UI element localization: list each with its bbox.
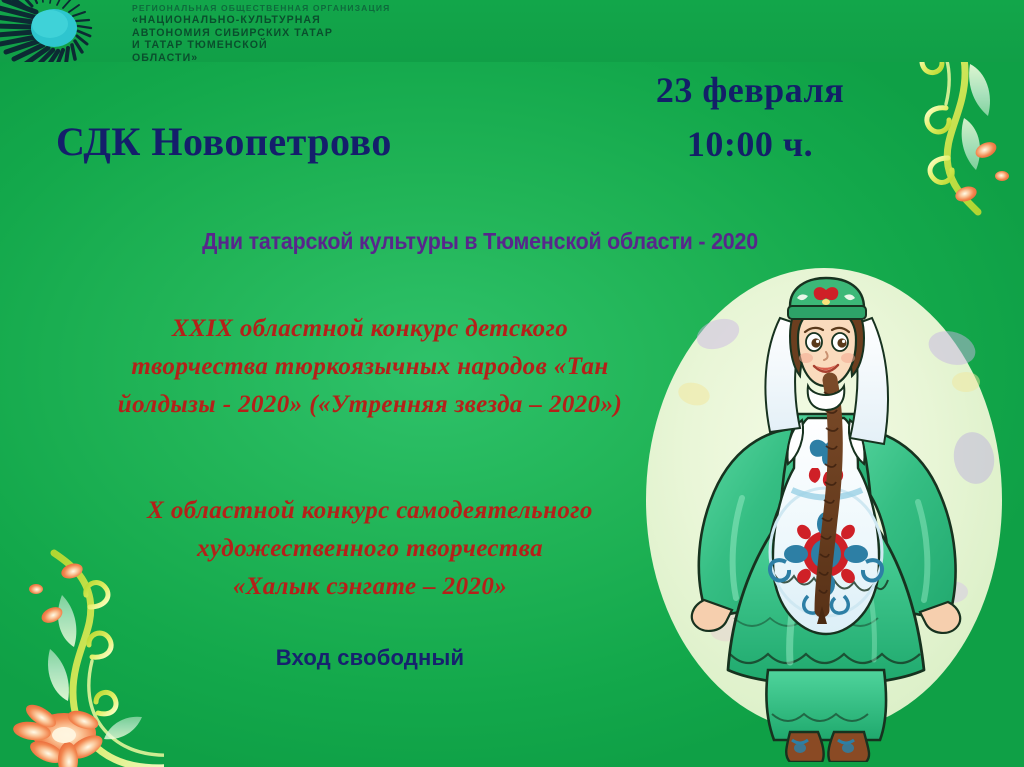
- contest1-line-2: творчества тюркоязычных народов «Тан: [40, 348, 700, 386]
- organization-name: РЕГИОНАЛЬНАЯ ОБЩЕСТВЕННАЯ ОРГАНИЗАЦИЯ «Н…: [132, 2, 462, 62]
- contest-block-amateur: X областной конкурс самодеятельного худо…: [40, 492, 700, 606]
- entry-free-note: Вход свободный: [40, 645, 700, 671]
- org-line-1: РЕГИОНАЛЬНАЯ ОБЩЕСТВЕННАЯ ОРГАНИЗАЦИЯ: [132, 2, 462, 14]
- contest2-line-2: художественного творчества: [40, 530, 700, 568]
- contest1-line-3: йолдызы - 2020» («Утренняя звезда – 2020…: [40, 386, 700, 424]
- org-line-3: АВТОНОМИЯ СИБИРСКИХ ТАТАР: [132, 27, 462, 40]
- tatar-girl-illustration: [622, 262, 1022, 762]
- contest1-line-1: XXIX областной конкурс детского: [40, 310, 700, 348]
- event-time: 10:00 ч.: [600, 122, 900, 166]
- poster-canvas: РЕГИОНАЛЬНАЯ ОБЩЕСТВЕННАЯ ОРГАНИЗАЦИЯ «Н…: [0, 0, 1024, 767]
- org-line-2: «НАЦИОНАЛЬНО-КУЛЬТУРНАЯ: [132, 14, 462, 27]
- event-subtitle: Дни татарской культуры в Тюменской облас…: [34, 228, 927, 255]
- contest2-line-3: «Халык сэнгате – 2020»: [40, 568, 700, 606]
- spiral-sun-logo: [0, 0, 114, 62]
- header-bar: РЕГИОНАЛЬНАЯ ОБЩЕСТВЕННАЯ ОРГАНИЗАЦИЯ «Н…: [0, 0, 1024, 62]
- org-line-5: ОБЛАСТИ»: [132, 52, 462, 62]
- contest-block-children: XXIX областной конкурс детского творчест…: [40, 310, 700, 424]
- venue-title: СДК Новопетрово: [56, 118, 392, 165]
- datetime-block: 23 февраля 10:00 ч.: [600, 68, 900, 166]
- org-line-4: И ТАТАР ТЮМЕНСКОЙ: [132, 39, 462, 52]
- event-date: 23 февраля: [600, 68, 900, 112]
- contest2-line-1: X областной конкурс самодеятельного: [40, 492, 700, 530]
